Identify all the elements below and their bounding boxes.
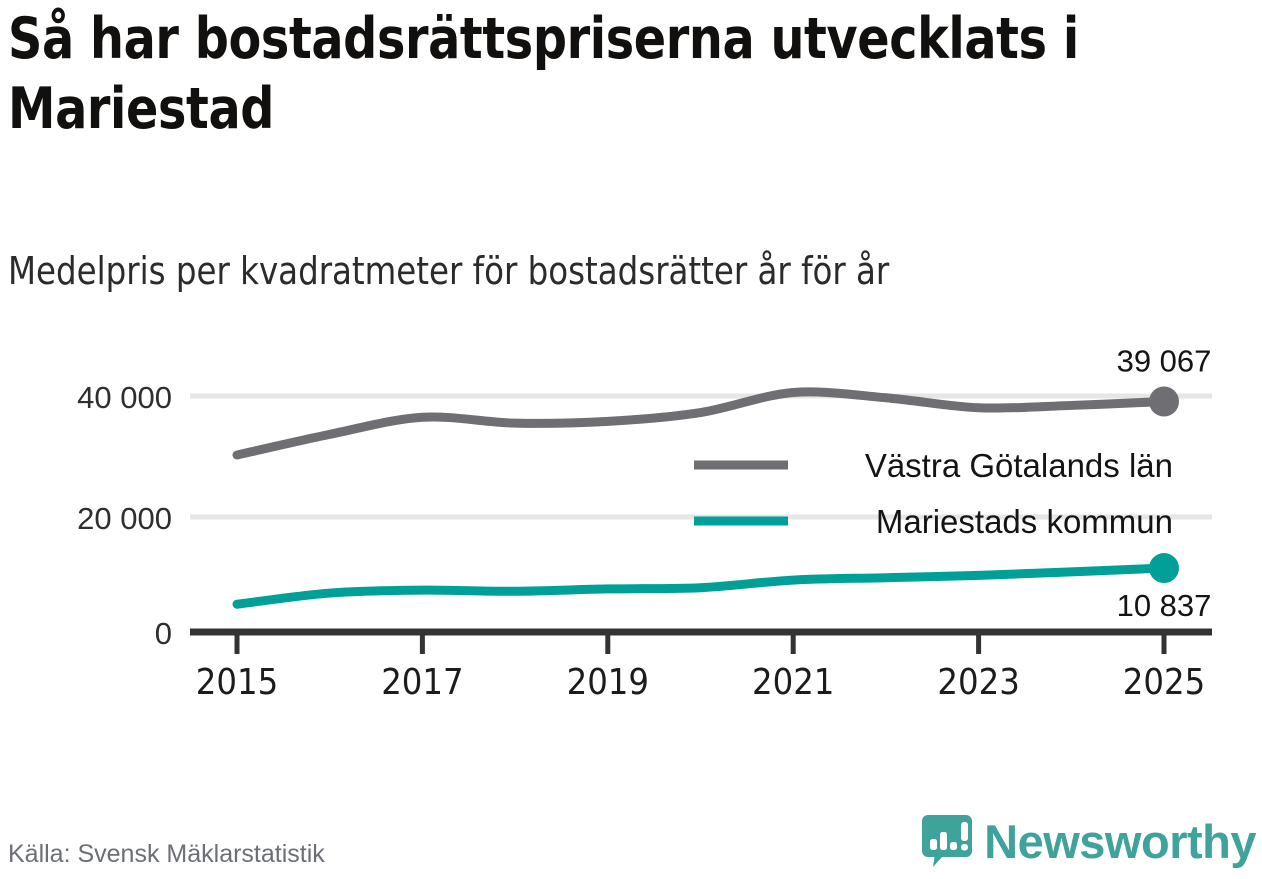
x-axis: 201520172019202120232025 xyxy=(190,632,1212,703)
chart-page: Så har bostadsrättspriserna utvecklats i… xyxy=(0,0,1262,879)
xtick-label-2021: 2021 xyxy=(752,662,834,703)
value-label-mariestads-kommun: 10 837 xyxy=(1117,588,1212,623)
xtick-label-2023: 2023 xyxy=(937,662,1019,703)
page-subtitle: Medelpris per kvadratmeter för bostadsrä… xyxy=(8,249,1186,293)
ytick-label-0: 0 xyxy=(155,616,172,651)
ytick-label-20000: 20 000 xyxy=(77,501,172,536)
series-line-vastra-gotalands-lan xyxy=(237,392,1164,455)
endpoint-dot-mariestads-kommun xyxy=(1149,553,1179,583)
xtick-label-2025: 2025 xyxy=(1123,662,1205,703)
y-axis-labels: 40 000 20 000 0 xyxy=(77,380,172,651)
newsworthy-wordmark: Newsworthy xyxy=(984,818,1256,865)
endpoint-dot-vastra-gotalands-lan xyxy=(1149,387,1179,417)
line-chart: 40 000 20 000 0 39 067 10 837 Västra Göt… xyxy=(0,330,1262,710)
x-axis-tick-labels: 201520172019202120232025 xyxy=(196,662,1205,703)
value-label-vastra-gotalands-lan: 39 067 xyxy=(1117,344,1212,379)
legend-label-vastra-gotalands-lan: Västra Götalands län xyxy=(865,447,1173,484)
page-title: Så har bostadsrättspriserna utvecklats i… xyxy=(8,4,1161,144)
xtick-label-2017: 2017 xyxy=(381,662,463,703)
legend-label-mariestads-kommun: Mariestads kommun xyxy=(876,503,1173,540)
series-line-mariestads-kommun xyxy=(237,568,1164,604)
series-lines xyxy=(237,392,1164,604)
chart-svg: 40 000 20 000 0 39 067 10 837 Västra Göt… xyxy=(0,330,1262,710)
source-note: Källa: Svensk Mäklarstatistik xyxy=(8,840,325,869)
bar-chart-speech-bubble-icon xyxy=(922,815,972,867)
x-axis-ticks xyxy=(237,635,1164,654)
xtick-label-2019: 2019 xyxy=(567,662,649,703)
series-endpoint-markers xyxy=(1149,387,1179,584)
newsworthy-logo[interactable]: Newsworthy xyxy=(922,810,1256,872)
chart-legend: Västra Götalands län Mariestads kommun xyxy=(694,447,1173,540)
ytick-label-40000: 40 000 xyxy=(77,380,172,415)
xtick-label-2015: 2015 xyxy=(196,662,278,703)
